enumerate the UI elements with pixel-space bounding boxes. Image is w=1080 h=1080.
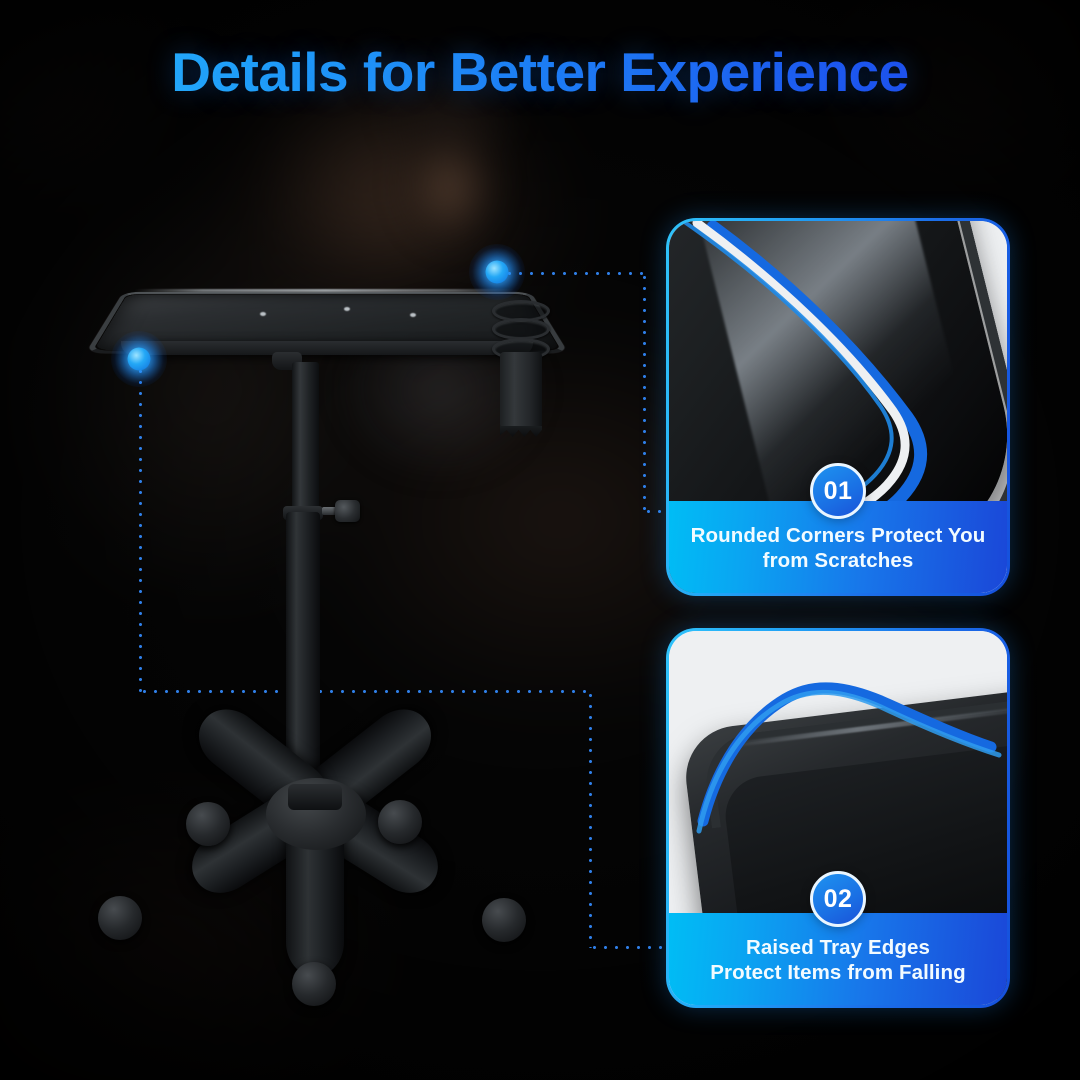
feature-card-02[interactable]: 02 Raised Tray Edges Protect Items from … <box>666 628 1010 1008</box>
tray-highlight-dot <box>260 312 266 316</box>
caster-wheel <box>482 898 526 942</box>
hotspot-tray-corner[interactable] <box>469 244 525 300</box>
caster-wheel <box>378 800 422 844</box>
infographic-canvas: Details for Better Experience <box>0 0 1080 1080</box>
hotspot-tray-edge[interactable] <box>111 331 167 387</box>
connector-line-02-horizontal-b <box>589 946 675 949</box>
rolling-base <box>90 750 540 1020</box>
feature-caption-02-line1: Raised Tray Edges <box>685 935 991 960</box>
product-illustration <box>0 0 700 1080</box>
feature-card-02-inner: 02 Raised Tray Edges Protect Items from … <box>669 631 1007 1005</box>
height-adjustment-knob <box>322 500 360 522</box>
feature-caption-01-line2: from Scratches <box>685 548 991 573</box>
pole-upper-section <box>292 362 319 522</box>
tray-rim-highlight <box>134 289 516 292</box>
feature-caption-01-line1: Rounded Corners Protect You <box>685 523 991 548</box>
feature-badge-01: 01 <box>810 463 866 519</box>
knob-head <box>335 500 360 522</box>
tray-highlight-dot <box>344 307 350 311</box>
connector-line-01-vertical <box>643 272 646 512</box>
connector-line-02-vertical-b <box>589 690 592 948</box>
pole-foot <box>288 784 342 810</box>
caster-wheel <box>292 962 336 1006</box>
caster-wheel <box>186 802 230 846</box>
feature-card-01[interactable]: 01 Rounded Corners Protect You from Scra… <box>666 218 1010 596</box>
connector-line-02-horizontal-a <box>139 690 591 693</box>
tray-front-edge <box>121 341 533 355</box>
connector-line-02-vertical-a <box>139 366 142 692</box>
caster-wheel <box>98 896 142 940</box>
holder-tube <box>500 352 542 430</box>
feature-badge-02: 02 <box>810 871 866 927</box>
feature-card-01-inner: 01 Rounded Corners Protect You from Scra… <box>669 221 1007 593</box>
tray-highlight-dot <box>410 313 416 317</box>
holder-ring <box>492 318 550 340</box>
feature-caption-02-line2: Protect Items from Falling <box>685 960 991 985</box>
tool-holder <box>486 300 556 435</box>
